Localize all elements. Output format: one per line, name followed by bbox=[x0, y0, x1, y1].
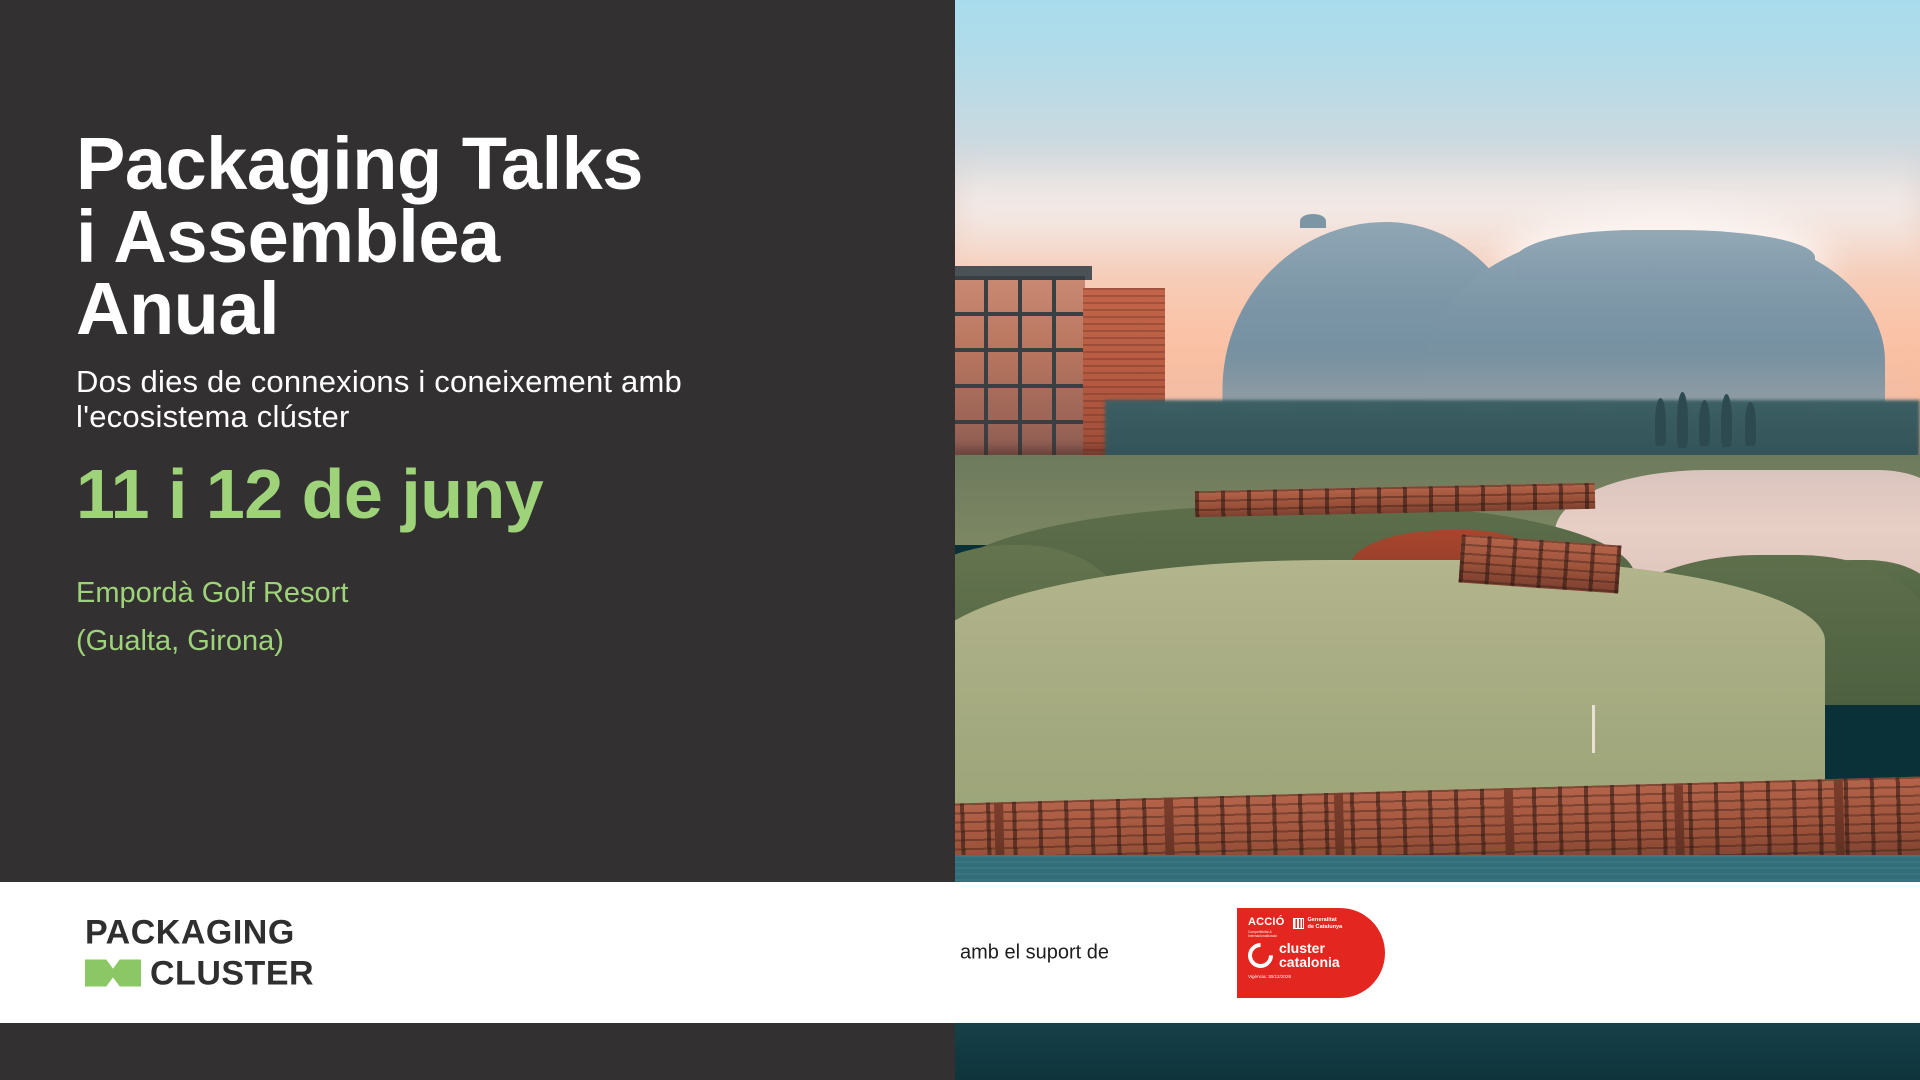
venue-name: Empordà Golf Resort bbox=[76, 570, 936, 618]
footer-bar: PACKAGING CLUSTER amb el suport de ACCIÓ… bbox=[0, 882, 1920, 1023]
cypress-tree bbox=[1699, 400, 1710, 446]
support-label: amb el suport de bbox=[960, 941, 1109, 964]
x-mark-icon bbox=[85, 960, 141, 987]
event-venue: Empordà Golf Resort (Gualta, Girona) bbox=[76, 570, 936, 666]
cluster-catalonia-badge: ACCIÓ Competitivitat & Internacionalitza… bbox=[1237, 908, 1385, 998]
accio-text: ACCIÓ bbox=[1248, 917, 1284, 928]
sponsor-top-row: ACCIÓ Competitivitat & Internacionalitza… bbox=[1248, 917, 1385, 939]
text-panel-content: Packaging Talks i Assemblea Anual Dos di… bbox=[76, 128, 936, 665]
cypress-tree bbox=[1677, 392, 1688, 448]
cypress-tree bbox=[1655, 398, 1666, 446]
accio-logo: ACCIÓ Competitivitat & Internacionalitza… bbox=[1248, 917, 1284, 939]
event-banner: Packaging Talks i Assemblea Anual Dos di… bbox=[0, 0, 1920, 1080]
catalan-flag-icon bbox=[1293, 918, 1304, 929]
validity-text: Vigència: 30/12/2026 bbox=[1248, 974, 1385, 979]
logo-packaging-text: PACKAGING bbox=[85, 915, 314, 949]
cypress-tree bbox=[1721, 394, 1732, 447]
event-dates: 11 i 12 de juny bbox=[76, 458, 936, 532]
mountain-left-peak bbox=[1300, 214, 1326, 228]
logo-second-row: CLUSTER bbox=[85, 956, 314, 990]
accio-subtext: Competitivitat & Internacionalització bbox=[1248, 930, 1284, 939]
venue-location: (Gualta, Girona) bbox=[76, 618, 936, 666]
packaging-cluster-logo: PACKAGING CLUSTER bbox=[85, 915, 314, 990]
event-subtitle: Dos dies de connexions i coneixement amb… bbox=[76, 364, 756, 435]
generalitat-text: Generalitat de Catalunya bbox=[1307, 917, 1342, 932]
logo-cluster-text: CLUSTER bbox=[150, 956, 314, 990]
revetment-post bbox=[1834, 779, 1845, 864]
cluster-catalonia-text: cluster catalonia bbox=[1279, 941, 1340, 970]
event-title: Packaging Talks i Assemblea Anual bbox=[76, 128, 936, 346]
c-circle-icon bbox=[1243, 938, 1278, 973]
hotel-glass-facade bbox=[955, 276, 1085, 458]
cluster-catalonia-mark: cluster catalonia bbox=[1248, 941, 1385, 970]
flagstick bbox=[1592, 705, 1595, 753]
cypress-tree bbox=[1745, 402, 1756, 446]
mountain-right-plateau bbox=[1515, 230, 1815, 280]
generalitat-logo: Generalitat de Catalunya bbox=[1293, 917, 1342, 932]
